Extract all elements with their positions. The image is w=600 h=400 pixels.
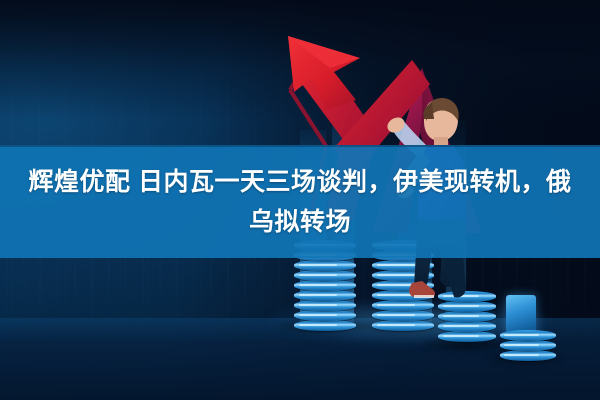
headline-line-1: 辉煌优配 日内瓦一天三场谈判，伊美现转机，俄 <box>29 164 572 200</box>
thumbnail-image: 辉煌优配 日内瓦一天三场谈判，伊美现转机，俄 乌拟转场 <box>0 0 600 400</box>
headline-line-2: 乌拟转场 <box>249 204 351 240</box>
coin-stack-4 <box>500 328 556 362</box>
page-title: 辉煌优配 日内瓦一天三场谈判，伊美现转机，俄 乌拟转场 <box>0 145 600 258</box>
